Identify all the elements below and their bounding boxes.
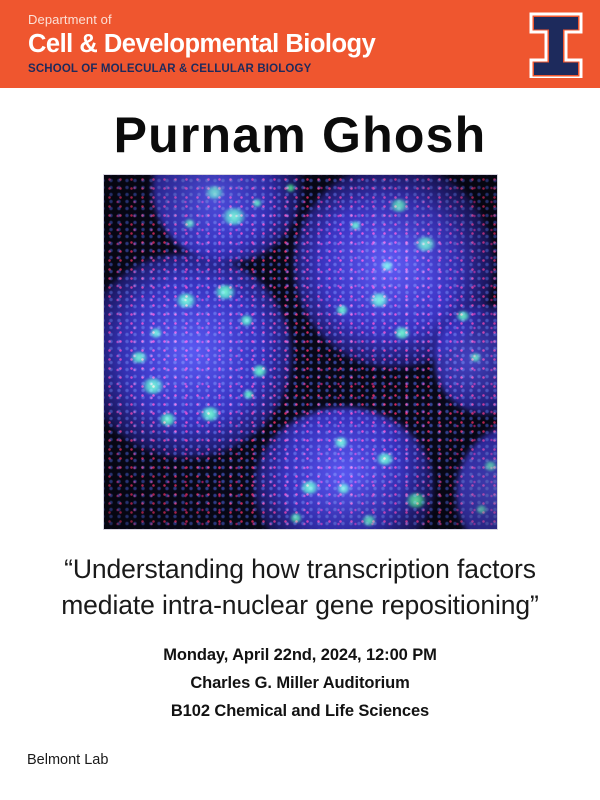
green-focus xyxy=(290,513,302,523)
green-focus xyxy=(362,515,376,526)
green-focus xyxy=(381,261,393,271)
green-focus xyxy=(286,184,295,192)
green-focus xyxy=(252,199,262,207)
micrograph-canvas xyxy=(104,175,497,529)
green-focus xyxy=(350,221,361,230)
school-name-subtitle: SCHOOL OF MOLECULAR & CELLULAR BIOLOGY xyxy=(28,62,375,77)
green-focus xyxy=(240,315,253,326)
green-focus xyxy=(476,505,487,514)
event-details-block: Monday, April 22nd, 2024, 12:00 PM Charl… xyxy=(0,641,600,725)
green-focus xyxy=(130,352,148,363)
department-eyebrow-label: Department of xyxy=(28,11,375,28)
green-focus xyxy=(200,407,220,421)
green-focus xyxy=(390,199,408,212)
micrograph-figure xyxy=(103,174,498,530)
green-focus xyxy=(406,493,426,508)
green-focus xyxy=(376,453,394,465)
green-focus xyxy=(243,390,254,399)
illinois-block-i-icon xyxy=(525,10,587,78)
department-header-banner: Department of Cell & Developmental Biolo… xyxy=(0,0,600,88)
green-focus xyxy=(142,378,164,394)
green-focus xyxy=(334,437,348,448)
event-venue: Charles G. Miller Auditorium xyxy=(0,669,600,697)
speaker-name-heading: Purnam Ghosh xyxy=(0,104,600,166)
green-focus xyxy=(184,219,195,228)
green-focus xyxy=(336,305,348,315)
talk-title-quote: “Understanding how transcription factors… xyxy=(18,551,582,623)
block-i-fill-path xyxy=(534,17,578,75)
event-building: B102 Chemical and Life Sciences xyxy=(0,697,600,725)
green-focus xyxy=(415,237,436,251)
green-focus xyxy=(337,483,350,494)
green-focus xyxy=(394,327,410,339)
event-datetime: Monday, April 22nd, 2024, 12:00 PM xyxy=(0,641,600,669)
green-focus xyxy=(205,186,224,199)
green-focus xyxy=(252,365,267,377)
green-focus xyxy=(369,293,389,307)
green-focus xyxy=(484,461,497,471)
green-focus xyxy=(300,481,319,494)
green-focus xyxy=(176,293,196,308)
lab-affiliation-label: Belmont Lab xyxy=(27,750,108,770)
green-focus xyxy=(222,208,246,225)
green-focus xyxy=(214,285,236,299)
green-focus xyxy=(456,311,470,321)
department-name-title: Cell & Developmental Biology xyxy=(28,29,375,60)
header-text-block: Department of Cell & Developmental Biolo… xyxy=(28,11,375,77)
green-foci-layer xyxy=(104,175,497,529)
green-focus xyxy=(470,353,481,362)
green-focus xyxy=(150,328,162,338)
green-focus xyxy=(159,413,176,426)
